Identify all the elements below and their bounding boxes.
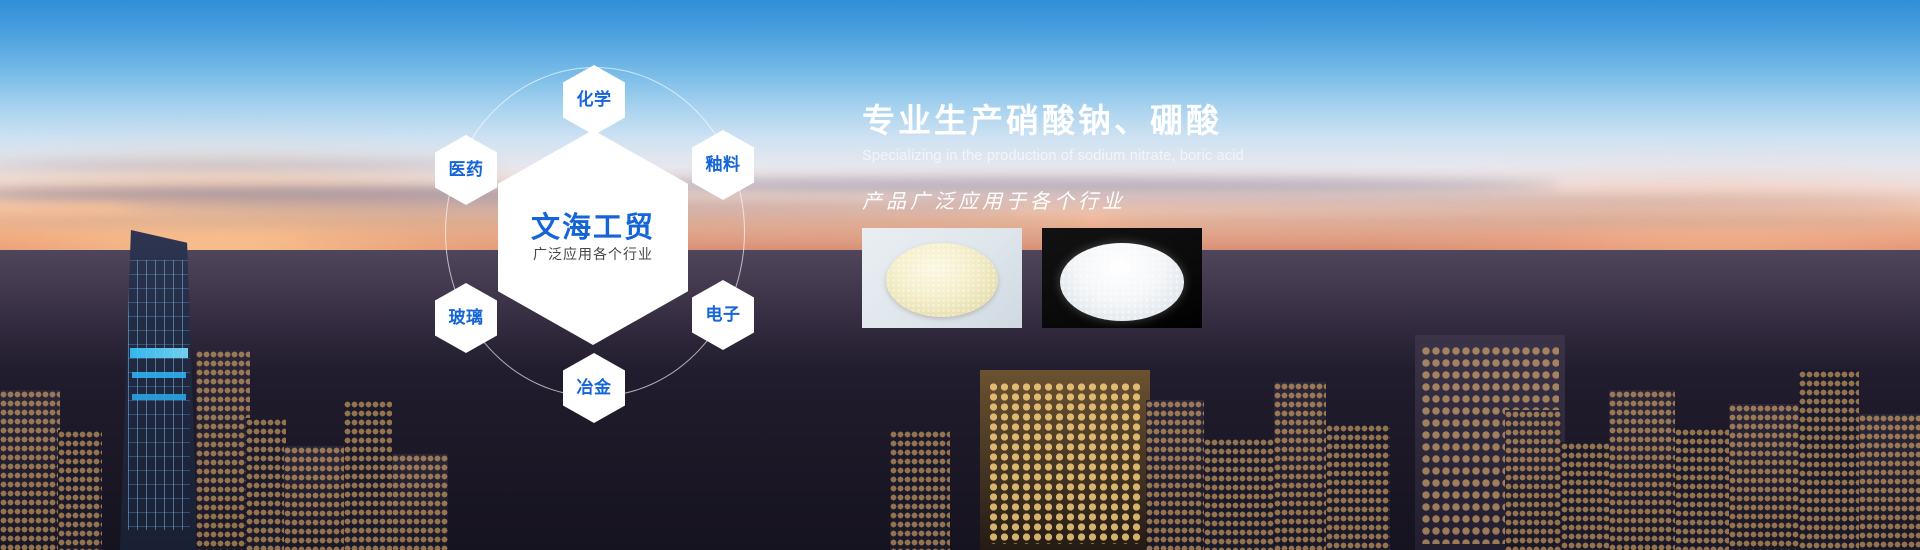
building [1729, 404, 1799, 550]
banner-copy-block: 专业生产硝酸钠、硼酸 Specializing in the productio… [862, 100, 1562, 214]
promo-banner: 化学 釉料 医药 玻璃 电子 冶金 文海工贸 广泛应用各个行业 专业生产硝酸钠、… [0, 0, 1920, 550]
building [1326, 424, 1390, 550]
industry-hexagon-diagram: 化学 釉料 医药 玻璃 电子 冶金 文海工贸 广泛应用各个行业 [430, 25, 760, 445]
hex-node-label: 冶金 [577, 380, 612, 397]
building [1274, 382, 1326, 550]
building [196, 350, 250, 550]
building [1505, 410, 1561, 550]
building [58, 430, 102, 550]
tagline: 产品广泛应用于各个行业 [862, 185, 1562, 214]
building [246, 418, 286, 550]
building [392, 454, 448, 550]
hex-node-label: 医药 [449, 162, 484, 179]
hex-node-label: 电子 [706, 307, 741, 324]
cloud-streak [1100, 214, 1920, 228]
product-photo-group [862, 228, 1202, 328]
product-photo-sodium-nitrate[interactable] [862, 228, 1022, 328]
building [1204, 438, 1274, 550]
hex-node-label: 釉料 [706, 157, 741, 174]
foreground-tower-left [120, 230, 198, 550]
building [0, 390, 60, 550]
product-photo-boric-acid[interactable] [1042, 228, 1202, 328]
powder-pile [1060, 243, 1184, 321]
hex-node-label: 化学 [577, 92, 612, 109]
powder-pile [886, 243, 998, 317]
building [1859, 414, 1920, 550]
building [284, 446, 346, 550]
subheadline-english: Specializing in the production of sodium… [862, 148, 1562, 164]
building [1146, 400, 1204, 550]
building [1675, 428, 1729, 550]
golden-lit-tower [980, 370, 1150, 550]
building [1609, 390, 1675, 550]
hex-node-label: 玻璃 [449, 310, 484, 327]
building [1561, 442, 1609, 550]
building [344, 400, 392, 550]
headline: 专业生产硝酸钠、硼酸 [862, 100, 1562, 141]
building [890, 430, 950, 550]
company-name: 文海工贸 [531, 213, 655, 242]
company-tagline: 广泛应用各个行业 [533, 248, 653, 262]
building [1799, 370, 1859, 550]
cloud-streak [0, 160, 500, 171]
